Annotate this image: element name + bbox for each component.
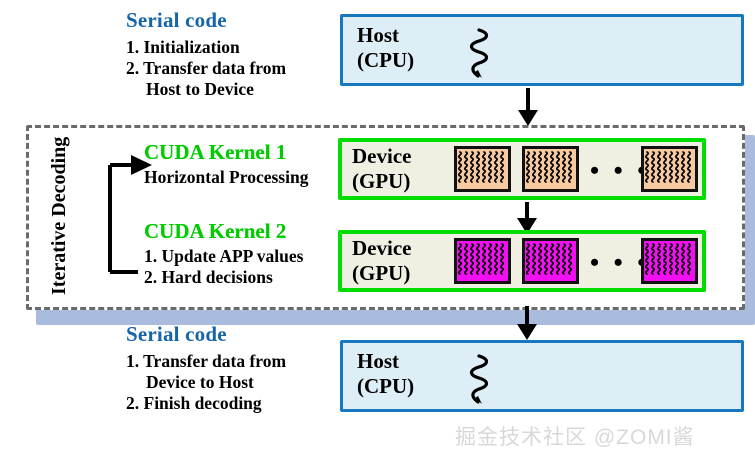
host-box-bottom: Host (CPU) [340,340,744,412]
watermark: 掘金技术社区 @ZOMI酱 [455,421,695,451]
bottom-serial-step-1: 1. Transfer data from [126,351,341,372]
cpu-thread-squiggle-icon [465,353,499,407]
bottom-serial-code-block: Serial code 1. Transfer data from Device… [126,322,341,414]
bottom-serial-step-1-cont: Device to Host [126,372,341,393]
bottom-serial-step-2: 2. Finish decoding [126,393,341,414]
host-bottom-line2: (CPU) [357,374,414,399]
diagram-canvas: Iterative Decoding Serial code 1. Initia… [0,0,755,465]
host-bottom-line1: Host [357,349,414,374]
bottom-serial-title: Serial code [126,322,341,347]
host-bottom-label: Host (CPU) [357,349,414,399]
